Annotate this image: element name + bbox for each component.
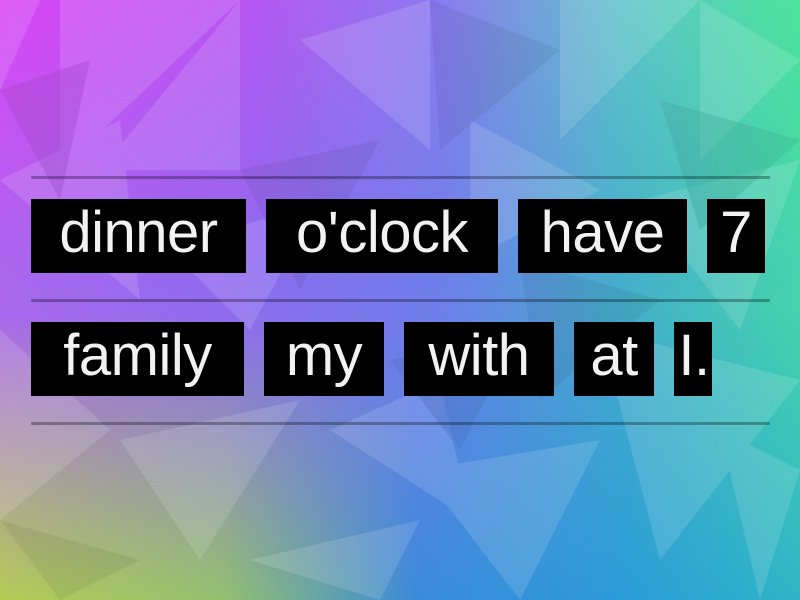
word-tile-with[interactable]: with xyxy=(404,322,554,396)
word-tile-my[interactable]: my xyxy=(264,322,384,396)
word-tile-label: with xyxy=(428,327,529,385)
row-separator-bottom xyxy=(31,422,770,425)
word-tile-have[interactable]: have xyxy=(518,199,687,273)
word-tile-label: at xyxy=(590,327,637,385)
row-separator-top xyxy=(31,176,770,179)
word-tile-at[interactable]: at xyxy=(574,322,654,396)
word-tile-i-period[interactable]: I. xyxy=(674,322,712,396)
word-tile-family[interactable]: family xyxy=(31,322,244,396)
word-tile-dinner[interactable]: dinner xyxy=(31,199,246,273)
word-tile-label: dinner xyxy=(59,204,217,262)
word-tile-7[interactable]: 7 xyxy=(707,199,765,273)
word-row-2: family my with at I. xyxy=(31,322,776,396)
word-board: dinner o'clock have 7 family my with xyxy=(0,0,800,600)
word-tile-label: 7 xyxy=(720,204,752,262)
row-separator-middle xyxy=(31,299,770,302)
word-tile-label: have xyxy=(541,204,665,262)
word-tile-label: family xyxy=(63,327,211,385)
word-row-1: dinner o'clock have 7 xyxy=(31,199,776,273)
word-tile-label: I. xyxy=(678,327,709,385)
word-tile-label: my xyxy=(286,327,362,385)
game-stage: dinner o'clock have 7 family my with xyxy=(0,0,800,600)
word-tile-label: o'clock xyxy=(296,204,468,262)
word-tile-oclock[interactable]: o'clock xyxy=(266,199,498,273)
